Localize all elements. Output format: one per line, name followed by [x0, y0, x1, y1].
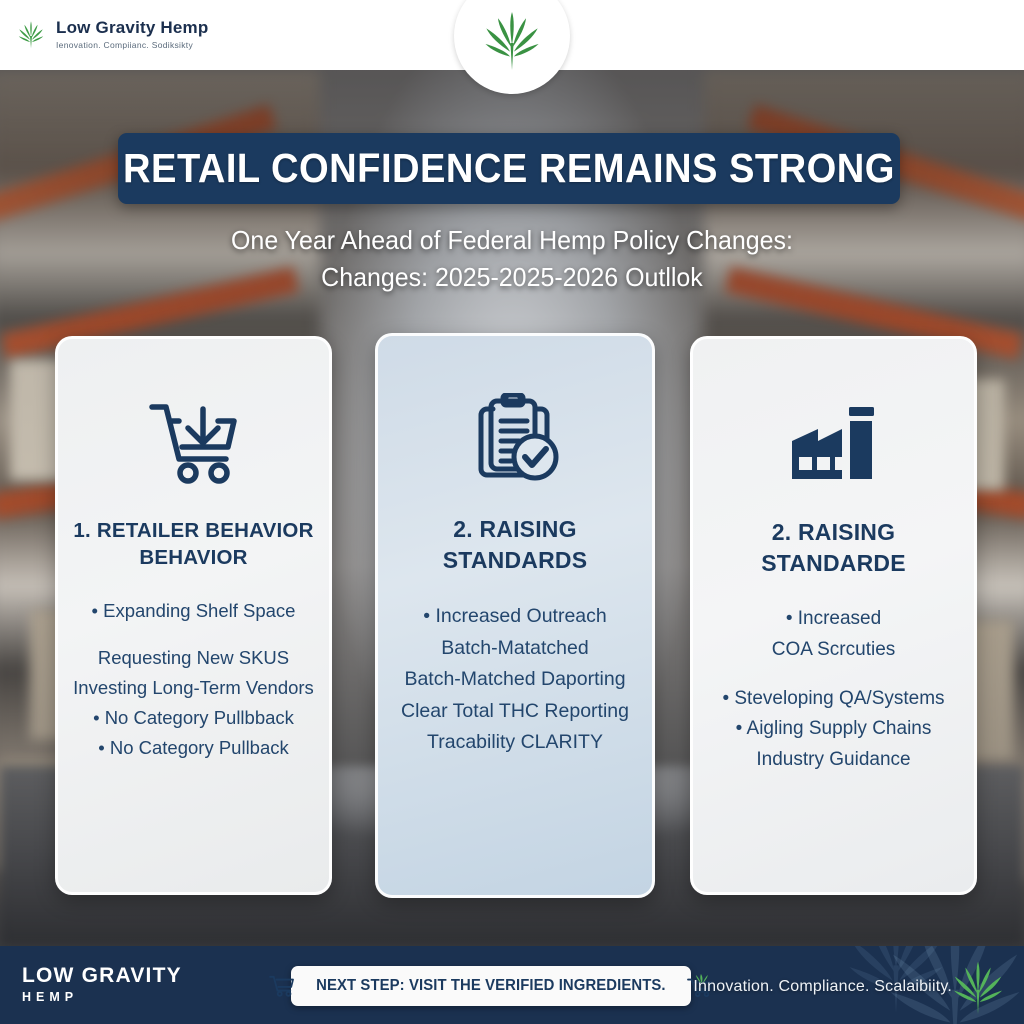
- card-icon-wrap: [469, 388, 561, 490]
- hemp-leaf-icon: [481, 10, 543, 72]
- card-title: 2. RAISING STANDARDE: [761, 517, 905, 578]
- list-item: • No Category Pullback: [73, 733, 314, 763]
- list-item: Requesting New SKUS: [73, 643, 314, 673]
- list-item: Investing Long-Term Vendors: [73, 673, 314, 703]
- clipboard-check-icon: [469, 393, 561, 485]
- card-bullet-list: • Expanding Shelf Space Requesting New S…: [73, 596, 314, 764]
- footer-tagline: Innovation. Compliance. Scalaibiity.: [693, 978, 952, 996]
- card-icon-wrap: [788, 391, 880, 493]
- footer-brand[interactable]: LOW GRAVITY HEMP: [0, 965, 182, 1004]
- hemp-leaf-icon: [16, 18, 46, 52]
- brand-tagline: Ienovation. Compiianc. Sodiksikty: [56, 41, 208, 50]
- list-item: Batch-Matched Daporting: [401, 664, 629, 696]
- list-item: Clear Total THC Reporting: [401, 696, 629, 728]
- list-item: • Steveloping QA/Systems: [722, 684, 944, 715]
- list-item: • No Category Pullbback: [73, 703, 314, 733]
- page-footer: LOW GRAVITY HEMP NEXT STEP: VISIT THE VE…: [0, 946, 1024, 1024]
- card-bullet-list: • Increased COA Scrcuties • Steveloping …: [722, 604, 944, 776]
- card-title-line-2: BEHAVIOR: [73, 544, 313, 571]
- card-bullet-list: • Increased Outreach Batch-Matatched Bat…: [401, 601, 629, 759]
- brand-logo[interactable]: Low Gravity Hemp Ienovation. Compiianc. …: [0, 18, 208, 52]
- card-title: 2. RAISING STANDARDS: [443, 514, 587, 575]
- card-grid: 1. RETAILER BEHAVIOR BEHAVIOR • Expandin…: [0, 0, 1024, 1024]
- cart-download-icon: [146, 399, 242, 485]
- cta-label: NEXT STEP: VISIT THE VERIFIED INGREDIENT…: [316, 977, 666, 995]
- card-manufacturing-standards[interactable]: 2. RAISING STANDARDE • Increased COA Scr…: [690, 336, 977, 895]
- card-retailer-behavior[interactable]: 1. RETAILER BEHAVIOR BEHAVIOR • Expandin…: [55, 336, 332, 895]
- list-item: • Increased: [722, 604, 944, 635]
- card-icon-wrap: [146, 391, 242, 493]
- list-spacer: [73, 625, 314, 643]
- brand-name: Low Gravity Hemp: [56, 19, 208, 38]
- hemp-leaf-icon: [950, 960, 1006, 1016]
- card-title: 1. RETAILER BEHAVIOR BEHAVIOR: [73, 517, 313, 572]
- cta-button[interactable]: NEXT STEP: VISIT THE VERIFIED INGREDIENT…: [291, 966, 691, 1006]
- card-title-line-2: STANDARDE: [761, 548, 905, 579]
- card-title-line-1: 1. RETAILER BEHAVIOR: [73, 517, 313, 544]
- footer-brand-line-2: HEMP: [22, 991, 182, 1004]
- list-item: COA Scrcuties: [722, 635, 944, 666]
- list-spacer: [722, 666, 944, 684]
- card-raising-standards[interactable]: 2. RAISING STANDARDS • Increased Outreac…: [375, 333, 655, 898]
- shopping-cart-icon: [269, 975, 295, 997]
- list-item: Industry Guidance: [722, 745, 944, 776]
- list-item: • Expanding Shelf Space: [73, 596, 314, 626]
- footer-brand-line-1: LOW GRAVITY: [22, 965, 182, 987]
- list-item: • Increased Outreach: [401, 601, 629, 633]
- card-title-line-1: 2. RAISING: [443, 514, 587, 545]
- list-item: Tracability CLARITY: [401, 727, 629, 759]
- card-title-line-1: 2. RAISING: [761, 517, 905, 548]
- factory-icon: [788, 401, 880, 483]
- card-title-line-2: STANDARDS: [443, 545, 587, 576]
- list-item: • Aigling Supply Chains: [722, 714, 944, 745]
- list-item: Batch-Matatched: [401, 633, 629, 665]
